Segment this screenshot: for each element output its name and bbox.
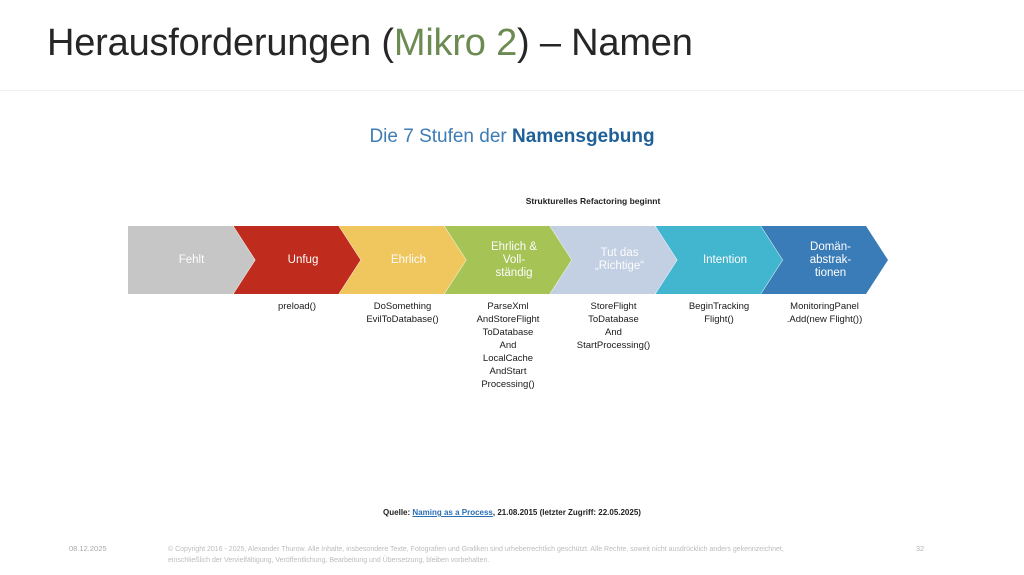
diagram-subtitle: Die 7 Stufen der Namensgebung	[0, 126, 1024, 148]
process-stage-label: Ehrlich	[379, 254, 426, 267]
footer-copyright: © Copyright 2016 - 2025, Alexander Thuro…	[168, 544, 818, 566]
footer-date: 08.12.2025	[69, 544, 107, 553]
source-citation: Quelle: Naming as a Process, 21.08.2015 …	[0, 508, 1024, 517]
page-title: Herausforderungen (Mikro 2) – Namen	[47, 22, 693, 65]
diagram-subtitle-strong: Namensgebung	[512, 126, 655, 147]
diagram-subtitle-prefix: Die 7 Stufen der	[369, 126, 512, 147]
process-chevron-band: FehltUnfugEhrlichEhrlich & Voll- ständig…	[128, 226, 880, 294]
source-suffix: , 21.08.2015 (letzter Zugriff: 22.05.202…	[493, 508, 641, 517]
stage-code-labels: preload()DoSomething EvilToDatabase()Par…	[128, 300, 896, 410]
header-divider	[0, 90, 1024, 91]
page-title-prefix: Herausforderungen (	[47, 22, 394, 64]
stage-code-label-7: MonitoringPanel .Add(new Flight())	[753, 300, 896, 326]
process-stage-label: Intention	[691, 254, 747, 267]
annotation-structural-refactoring: Strukturelles Refactoring beginnt	[523, 196, 663, 207]
process-stage-label: Fehlt	[179, 254, 205, 267]
process-stage-label: Unfug	[276, 254, 319, 267]
page-title-accent: Mikro 2	[394, 22, 517, 64]
process-stage-label: Domän- abstrak- tionen	[798, 241, 852, 280]
footer-page-number: 32	[900, 544, 940, 553]
slide-footer: 08.12.2025 © Copyright 2016 - 2025, Alex…	[0, 540, 1024, 575]
source-link[interactable]: Naming as a Process	[412, 508, 492, 517]
process-stage-label: Tut das „Richtige“	[583, 247, 644, 273]
process-stage-1: Fehlt	[128, 226, 255, 294]
page-title-suffix: ) – Namen	[517, 22, 693, 64]
source-prefix: Quelle:	[383, 508, 412, 517]
process-stage-label: Ehrlich & Voll- ständig	[479, 241, 537, 280]
slide-header: Herausforderungen (Mikro 2) – Namen	[0, 0, 1024, 91]
